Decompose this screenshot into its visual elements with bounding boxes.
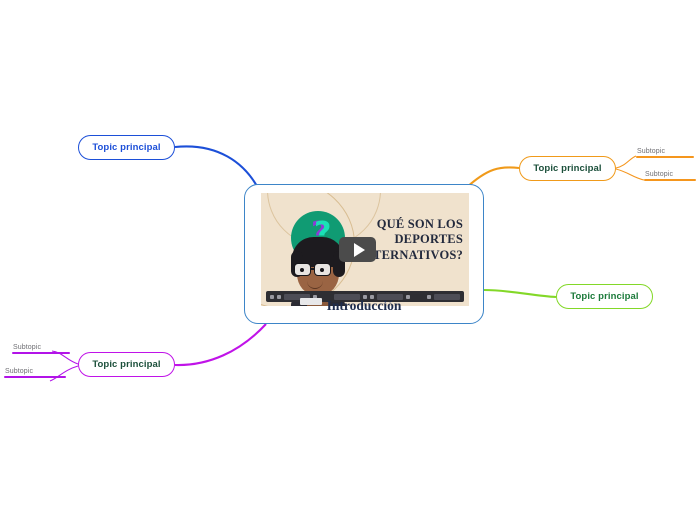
- subtopic-underline: [4, 376, 66, 378]
- play-triangle: [354, 243, 365, 257]
- subtopic-label: Subtopic: [12, 344, 70, 352]
- topic-label: Topic principal: [570, 291, 638, 302]
- connector-subtopic-orange-2: [616, 169, 644, 180]
- subtopic-underline: [644, 179, 696, 181]
- connector-right: [484, 290, 556, 297]
- video-title-line-1: QUÉ SON LOS: [339, 217, 463, 232]
- mindmap-canvas: ? ? QUÉ SON LOS DEPORTES ALTERNATIVOS?: [0, 0, 696, 520]
- topic-label: Topic principal: [92, 142, 160, 153]
- topic-node-bottom-left[interactable]: Topic principal: [78, 352, 175, 377]
- play-icon[interactable]: [339, 237, 376, 262]
- subtopic-underline: [12, 352, 70, 354]
- subtopic-label: Subtopic: [636, 148, 694, 156]
- avatar-eye-right: [320, 268, 324, 272]
- topic-node-right[interactable]: Topic principal: [556, 284, 653, 309]
- central-node[interactable]: ? ? QUÉ SON LOS DEPORTES ALTERNATIVOS?: [244, 184, 484, 324]
- topic-label: Topic principal: [533, 163, 601, 174]
- subtopic-node-purple-1[interactable]: Subtopic: [12, 344, 70, 354]
- avatar-eye-left: [300, 268, 304, 272]
- subtopic-label: Subtopic: [644, 171, 696, 179]
- topic-node-top-right[interactable]: Topic principal: [519, 156, 616, 181]
- connector-bottom-left: [175, 324, 266, 365]
- topic-label: Topic principal: [92, 359, 160, 370]
- subtopic-underline: [636, 156, 694, 158]
- subtopic-node-orange-2[interactable]: Subtopic: [644, 171, 696, 181]
- subtopic-node-orange-1[interactable]: Subtopic: [636, 148, 694, 158]
- subtopic-label: Subtopic: [4, 368, 66, 376]
- subtopic-node-purple-2[interactable]: Subtopic: [4, 368, 66, 378]
- video-thumbnail[interactable]: ? ? QUÉ SON LOS DEPORTES ALTERNATIVOS?: [261, 193, 469, 306]
- connector-subtopic-orange-1: [616, 156, 636, 168]
- topic-node-top-left[interactable]: Topic principal: [78, 135, 175, 160]
- avatar-glasses-bridge: [311, 268, 314, 270]
- central-node-caption: Introducción: [245, 298, 483, 314]
